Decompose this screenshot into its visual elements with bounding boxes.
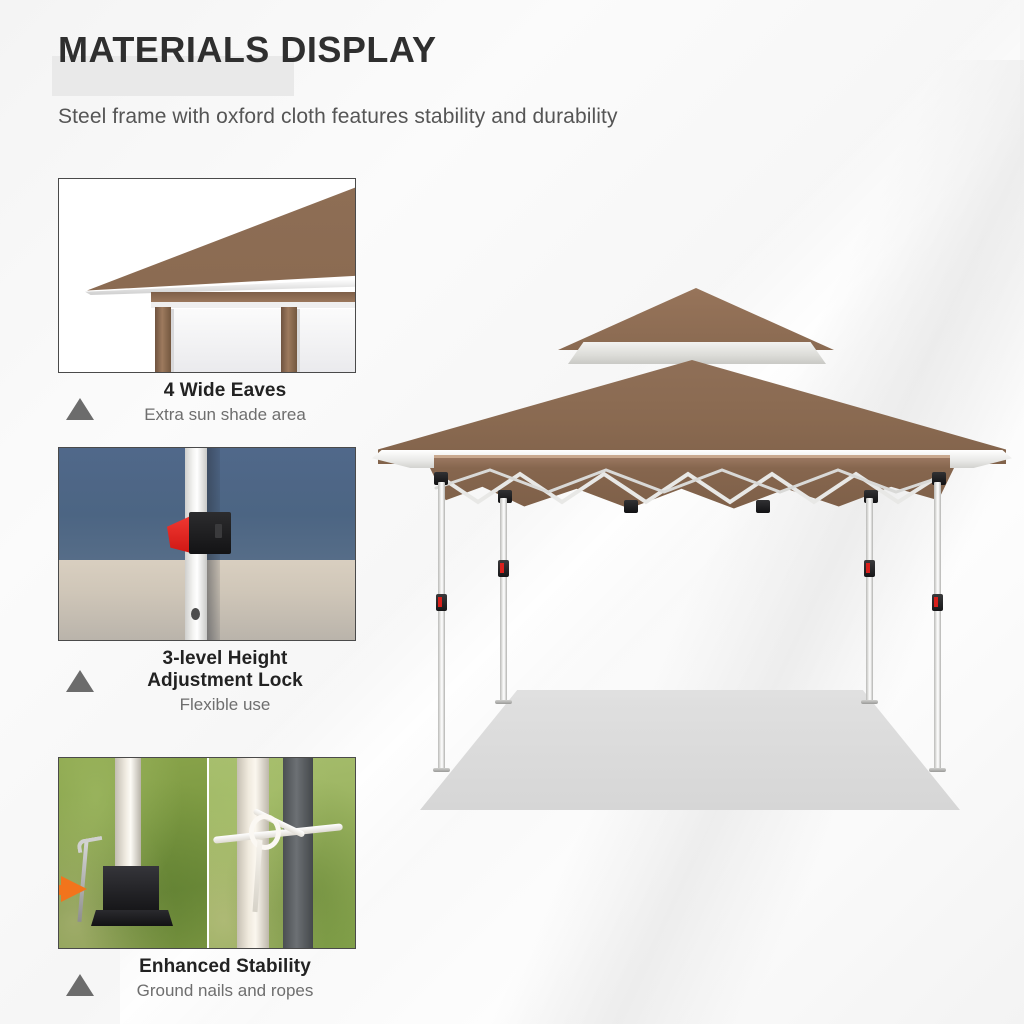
page-title-wrap: MATERIALS DISPLAY (58, 30, 437, 70)
page-subtitle: Steel frame with oxford cloth features s… (58, 105, 618, 129)
canopy-vent-band (568, 342, 826, 364)
orange-arrow-icon (61, 876, 87, 902)
eave-post-middle (281, 307, 297, 373)
feature-title: 4 Wide Eaves (100, 380, 350, 402)
feature-title: Enhanced Stability (100, 956, 350, 978)
feature-image-height-lock (58, 447, 356, 641)
leg-back-left (500, 498, 507, 702)
rope-photo-half (209, 758, 356, 949)
leg-lock-clip (864, 560, 875, 577)
feature-subtitle: Extra sun shade area (100, 404, 350, 425)
lock-housing (189, 512, 231, 554)
eave-post-left (155, 307, 171, 373)
leg-back-right (866, 498, 873, 702)
frame-bracket (624, 500, 638, 513)
infographic-page: MATERIALS DISPLAY Steel frame with oxfor… (0, 0, 1024, 1024)
feature-subtitle: Ground nails and ropes (100, 980, 350, 1001)
stake-photo-half (59, 758, 207, 949)
feature-image-enhanced-stability (58, 757, 356, 949)
eave-mesh-panel-2 (297, 309, 356, 373)
product-hero-image (372, 276, 1012, 836)
leg-foot (929, 768, 946, 772)
foot-base-plate (91, 910, 173, 926)
leg-lock-clip (932, 594, 943, 611)
page-title: MATERIALS DISPLAY (58, 30, 437, 70)
feature-card-height-lock: 3-level Height Adjustment Lock Flexible … (58, 447, 358, 726)
canopy-pole-right (237, 758, 269, 949)
eave-valance-trim (151, 302, 356, 308)
leg-front-right (934, 482, 941, 770)
feature-image-wide-eaves (58, 178, 356, 373)
canopy-main-tier (378, 360, 1006, 464)
rope-knot (249, 814, 281, 850)
leg-foot (433, 768, 450, 772)
product-ground-plane (420, 690, 960, 810)
dark-pole-right (283, 758, 313, 949)
leg-foot (861, 700, 878, 704)
leg-foot (495, 700, 512, 704)
triangle-up-icon (66, 398, 94, 420)
eave-mesh-panel-1 (171, 309, 287, 373)
feature-card-enhanced-stability: Enhanced Stability Ground nails and rope… (58, 757, 358, 1014)
feature-caption-wide-eaves: 4 Wide Eaves Extra sun shade area (58, 380, 358, 438)
feature-title-line1: 3-level Height (100, 648, 350, 670)
frame-bracket (756, 500, 770, 513)
lock-slot (215, 524, 222, 538)
feature-subtitle: Flexible use (100, 694, 350, 715)
feature-caption-height-lock: 3-level Height Adjustment Lock Flexible … (58, 648, 358, 726)
feature-title-line2: Adjustment Lock (100, 670, 350, 692)
canopy-upper-tier (558, 288, 834, 350)
leg-lock-clip (436, 594, 447, 611)
pole-adjustment-hole (191, 608, 200, 620)
feature-caption-enhanced-stability: Enhanced Stability Ground nails and rope… (58, 956, 358, 1014)
triangle-up-icon (66, 974, 94, 996)
feature-card-wide-eaves: 4 Wide Eaves Extra sun shade area (58, 178, 358, 438)
triangle-up-icon (66, 670, 94, 692)
leg-front-left (438, 482, 445, 770)
leg-lock-clip (498, 560, 509, 577)
